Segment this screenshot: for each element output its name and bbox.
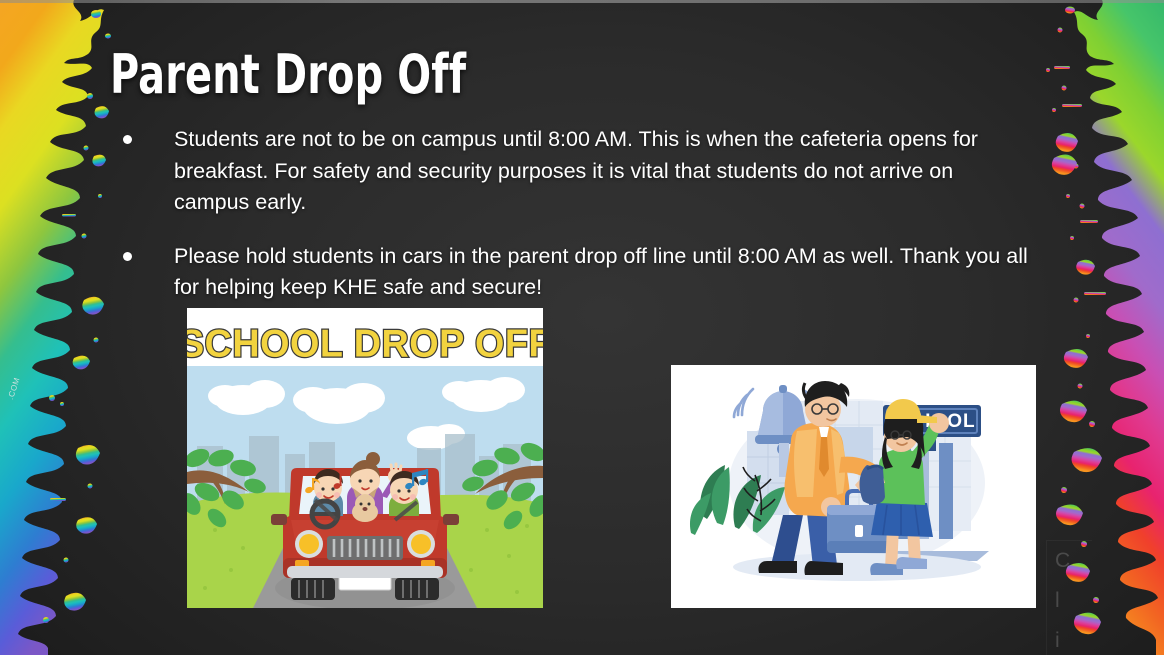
parent-child-school-handoff-illustration: SCHOOL: [671, 365, 1036, 608]
slide-top-hairline: [0, 0, 1164, 3]
presentation-slide: .COM: [0, 0, 1164, 655]
bullet-dot-icon: [123, 252, 132, 261]
list-item: Students are not to be on campus until 8…: [118, 124, 1028, 219]
page-title: Parent Drop Off: [110, 43, 466, 106]
paint-splatter-left: [0, 0, 118, 655]
bullet-dot-icon: [123, 135, 132, 144]
list-item: Please hold students in cars in the pare…: [118, 241, 1028, 304]
bullet-list: Students are not to be on campus until 8…: [118, 124, 1028, 326]
paint-splatter-right: [1040, 0, 1164, 655]
svg-text:SCHOOL DROP OFF: SCHOOL DROP OFF: [187, 322, 543, 366]
bullet-text: Please hold students in cars in the pare…: [174, 241, 1028, 304]
bullet-text: Students are not to be on campus until 8…: [174, 124, 1028, 219]
school-drop-off-clipart: SCHOOL DROP OFF: [187, 308, 543, 608]
